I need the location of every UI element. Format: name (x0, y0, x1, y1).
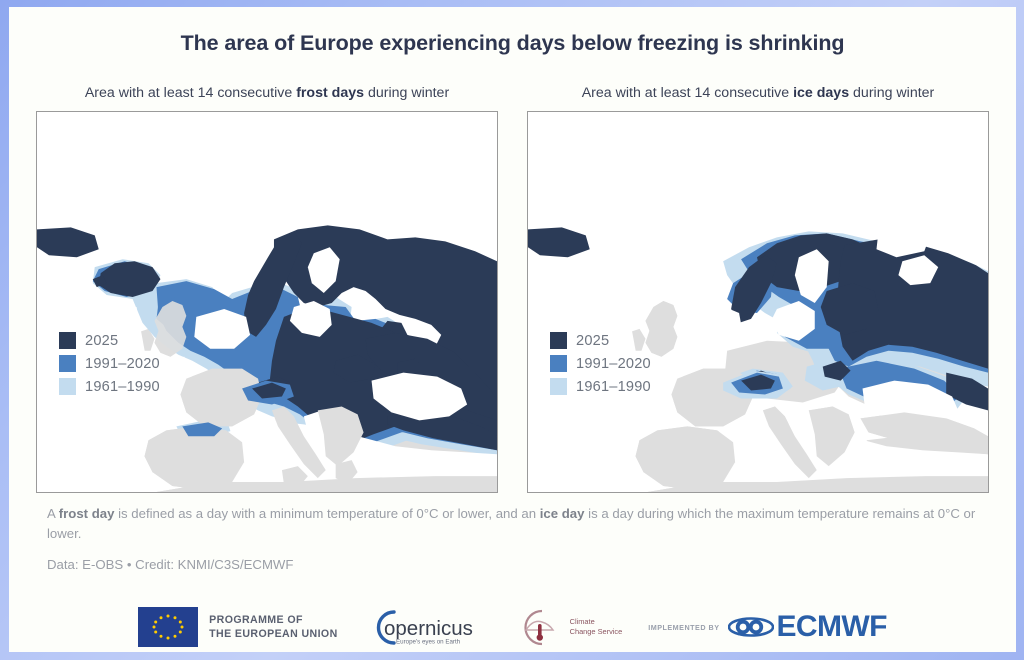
caption-text-post: during winter (849, 85, 934, 101)
c3s-mark-icon (516, 606, 564, 648)
c3s-text-line1: Climate (570, 617, 623, 627)
legend-label-2025: 2025 (85, 333, 118, 349)
eu-logo: PROGRAMME OF THE EUROPEAN UNION (138, 607, 337, 647)
caption-text-post: during winter (364, 85, 449, 101)
c3s-text-line2: Change Service (570, 627, 623, 637)
legend-swatch-2025 (550, 332, 567, 349)
ice-days-map-svg (528, 112, 988, 492)
ice-days-map[interactable]: 2025 1991–2020 1961–1990 (527, 111, 989, 493)
legend-swatch-1961-1990 (550, 378, 567, 395)
footnote-part-2: is defined as a day with a minimum tempe… (114, 506, 539, 521)
eu-logo-text: PROGRAMME OF THE EUROPEAN UNION (209, 613, 337, 642)
copernicus-mark-icon: opernicus Europe's eyes on Earth (364, 606, 490, 648)
footnote-bold-frost-day: frost day (59, 506, 115, 521)
legend-row: 2025 (550, 329, 651, 352)
caption-text-pre: Area with at least 14 consecutive (85, 85, 296, 101)
eu-text-line1: PROGRAMME OF (209, 613, 337, 627)
ecmwf-logo: IMPLEMENTED BY ECMWF (648, 610, 887, 644)
legend-frost: 2025 1991–2020 1961–1990 (59, 329, 160, 398)
legend-row: 1961–1990 (59, 375, 160, 398)
legend-row: 1961–1990 (550, 375, 651, 398)
svg-text:opernicus: opernicus (384, 617, 473, 640)
panel-frost-days: Area with at least 14 consecutive frost … (36, 85, 498, 493)
caption-text-bold: ice days (793, 85, 849, 101)
footnote: A frost day is defined as a day with a m… (47, 504, 988, 545)
legend-label-1991-2020: 1991–2020 (85, 356, 160, 372)
eu-stars-icon (138, 607, 198, 647)
c3s-logo-text: Climate Change Service (570, 617, 623, 637)
legend-label-1961-1990: 1961–1990 (576, 379, 651, 395)
infographic-page: The area of Europe experiencing days bel… (9, 7, 1016, 652)
legend-label-2025: 2025 (576, 333, 609, 349)
c3s-logo: Climate Change Service (516, 606, 623, 648)
legend-label-1991-2020: 1991–2020 (576, 356, 651, 372)
footer-logos: PROGRAMME OF THE EUROPEAN UNION opernicu… (9, 599, 1016, 652)
ecmwf-mark-icon (728, 612, 774, 642)
panel-caption-frost: Area with at least 14 consecutive frost … (36, 85, 498, 101)
copernicus-logo: opernicus Europe's eyes on Earth (364, 606, 490, 648)
data-credit-line: Data: E-OBS • Credit: KNMI/C3S/ECMWF (47, 557, 293, 572)
legend-swatch-1991-2020 (550, 355, 567, 372)
eu-text-line2: THE EUROPEAN UNION (209, 627, 337, 641)
caption-text-pre: Area with at least 14 consecutive (582, 85, 793, 101)
legend-swatch-1991-2020 (59, 355, 76, 372)
outer-frame: The area of Europe experiencing days bel… (0, 0, 1024, 660)
legend-label-1961-1990: 1961–1990 (85, 379, 160, 395)
legend-swatch-2025 (59, 332, 76, 349)
page-title: The area of Europe experiencing days bel… (9, 31, 1016, 56)
frost-days-map-svg (37, 112, 497, 492)
svg-text:Europe's eyes on Earth: Europe's eyes on Earth (396, 639, 461, 646)
implemented-by-label: IMPLEMENTED BY (648, 623, 719, 632)
legend-row: 2025 (59, 329, 160, 352)
legend-row: 1991–2020 (550, 352, 651, 375)
legend-row: 1991–2020 (59, 352, 160, 375)
map-panels: Area with at least 14 consecutive frost … (9, 85, 1016, 493)
legend-swatch-1961-1990 (59, 378, 76, 395)
footnote-part-1: A (47, 506, 59, 521)
frost-days-map[interactable]: 2025 1991–2020 1961–1990 (36, 111, 498, 493)
panel-ice-days: Area with at least 14 consecutive ice da… (527, 85, 989, 493)
panel-caption-ice: Area with at least 14 consecutive ice da… (527, 85, 989, 101)
legend-ice: 2025 1991–2020 1961–1990 (550, 329, 651, 398)
ecmwf-wordmark: ECMWF (777, 610, 887, 644)
eu-flag-icon (138, 607, 198, 647)
caption-text-bold: frost days (296, 85, 364, 101)
footnote-bold-ice-day: ice day (540, 506, 585, 521)
